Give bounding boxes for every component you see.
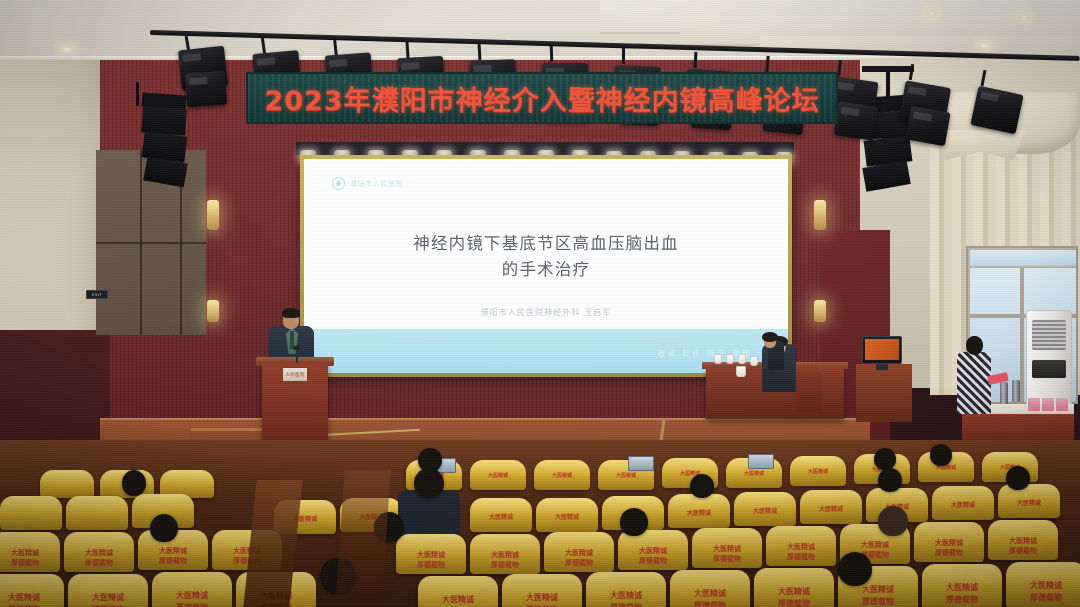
air-conditioner-grille: [1032, 320, 1066, 350]
seat: [40, 470, 94, 498]
seat: 大医精诚: [668, 494, 730, 528]
ceiling-downlight: [60, 46, 73, 53]
seat: 大医精诚: [734, 492, 796, 526]
seat: [0, 496, 62, 530]
gift-bag: [1042, 398, 1054, 411]
exit-sign: EXIT: [86, 290, 108, 299]
speaker-right-rigging: [886, 70, 890, 98]
seat: 大医精诚: [800, 490, 862, 524]
cup: [736, 366, 746, 377]
seat: 大医精诚厚德载物: [64, 532, 134, 572]
seat: 大医精诚厚德载物: [0, 532, 60, 572]
panel-chair: [796, 372, 822, 412]
seat: 大医精诚: [470, 498, 532, 532]
air-conditioner-panel: [1032, 360, 1066, 378]
seat: 大医精诚厚德载物: [692, 528, 762, 568]
speaker-left-rigging: [136, 82, 139, 106]
slide-logo: 濮阳市人民医院: [332, 177, 403, 190]
gift-bag: [1028, 398, 1040, 411]
seat: 大医精诚厚德载物: [0, 574, 64, 607]
attendee: [878, 506, 908, 536]
cup: [714, 354, 722, 364]
seat: 大医精诚: [998, 484, 1060, 518]
slide-subtitle: 濮阳市人民医院神经外科 王启军: [304, 307, 788, 318]
attendee: [878, 468, 902, 492]
seat: 大医精诚厚德载物: [396, 534, 466, 574]
slide-title: 神经内镜下基底节区高血压脑出血 的手术治疗: [304, 231, 788, 282]
wall-sconce-left-lower: [207, 300, 219, 322]
side-table: [856, 364, 912, 422]
seat: 大医精诚厚德载物: [502, 574, 582, 607]
podium-emblem-label: 人民医院: [286, 372, 305, 378]
thermos: [1012, 380, 1020, 402]
laptop: [628, 456, 654, 471]
seat: 大医精诚厚德载物: [988, 520, 1058, 560]
presenter-hair: [282, 308, 300, 318]
attendee: [838, 552, 872, 586]
attendee: [690, 474, 714, 498]
staff-head: [966, 336, 983, 355]
banner-title: 2023年濮阳市神经介入暨神经内镜高峰论坛: [264, 79, 819, 118]
exit-sign-label: EXIT: [92, 292, 102, 297]
seat: 大医精诚厚德载物: [1006, 562, 1080, 607]
slide-title-line2: 的手术治疗: [304, 257, 788, 283]
monitor-stand: [876, 364, 888, 370]
cup: [750, 356, 758, 366]
hospital-logo-icon: [332, 177, 345, 190]
seat: 大医精诚: [790, 456, 846, 486]
seat: 大医精诚: [470, 460, 526, 490]
attendee: [874, 448, 896, 470]
seat: 大医精诚厚德载物: [68, 574, 148, 607]
podium-emblem: 人民医院: [282, 367, 308, 382]
gift-bag: [1056, 398, 1068, 411]
ceiling-downlight: [925, 10, 938, 17]
attendee: [414, 468, 444, 498]
ceiling-downlight: [1018, 14, 1031, 21]
speaker-right-mount: [862, 66, 914, 72]
attendee: [930, 444, 952, 466]
seat: 大医精诚厚德载物: [766, 526, 836, 566]
staff-body: [957, 352, 991, 414]
seat: 大医精诚厚德载物: [914, 522, 984, 562]
seat: 大医精诚: [932, 486, 994, 520]
seat: [66, 496, 128, 530]
attendee: [122, 470, 146, 496]
cup: [726, 354, 734, 364]
attendee: [620, 508, 648, 536]
projection-screen-frame: 濮阳市人民医院 神经内镜下基底节区高血压脑出血 的手术治疗 濮阳市人民医院神经外…: [300, 155, 792, 377]
audience-seating: 大医精诚 大医精诚 大医精诚 大医精诚 大医精诚 大医精诚 大医精诚 大医精诚 …: [0, 440, 1080, 607]
seat: 大医精诚厚德载物: [922, 564, 1002, 607]
seat: 大医精诚厚德载物: [152, 572, 232, 607]
seat: 大医精诚厚德载物: [618, 530, 688, 570]
wall-sconce-right: [814, 200, 826, 230]
seat: 大医精诚: [536, 498, 598, 532]
wall-sconce-left: [207, 200, 219, 230]
wall-sconce-right-lower: [814, 300, 826, 322]
conference-banner: 2023年濮阳市神经介入暨神经内镜高峰论坛: [246, 72, 838, 124]
seat: 大医精诚厚德载物: [670, 570, 750, 607]
projection-screen: 濮阳市人民医院 神经内镜下基底节区高血压脑出血 的手术治疗 濮阳市人民医院神经外…: [304, 159, 788, 373]
seat: 大医精诚厚德载物: [754, 568, 834, 607]
ceiling-downlight: [978, 42, 991, 49]
attendee: [150, 514, 178, 542]
panelist-2-hair: [762, 332, 778, 342]
cup: [738, 354, 746, 364]
slide-title-line1: 神经内镜下基底节区高血压脑出血: [304, 231, 788, 257]
seat: 大医精诚厚德载物: [418, 576, 498, 607]
seat: 大医精诚: [534, 460, 590, 490]
microphone-stand: [296, 349, 298, 363]
microphone-icon: [293, 346, 300, 350]
monitor-screen: [865, 339, 899, 360]
slide-logo-label: 濮阳市人民医院: [350, 179, 403, 189]
laptop: [748, 454, 774, 469]
seat: 大医精诚厚德载物: [470, 534, 540, 574]
attendee: [1006, 466, 1030, 490]
aisle: [335, 470, 391, 607]
thermos: [1000, 382, 1008, 404]
conference-hall-photo: EXIT: [0, 0, 1080, 607]
window-transom: [966, 246, 1078, 268]
seat: 大医精诚厚德载物: [544, 532, 614, 572]
seat: 大医精诚厚德载物: [586, 572, 666, 607]
